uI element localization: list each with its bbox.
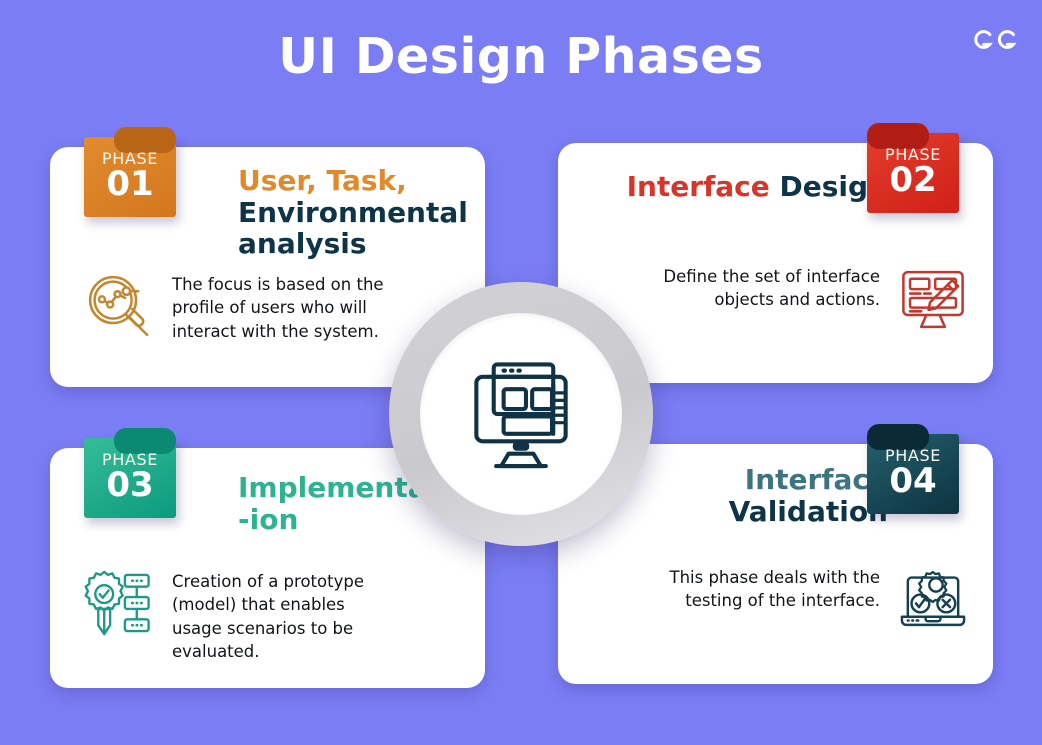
monitor-wireframe-pencil-icon <box>896 261 970 335</box>
phase-badge-02: PHASE 02 <box>867 133 959 213</box>
magnifier-chart-icon <box>82 269 156 343</box>
phase-heading-01: User, Task, Environmental analysis <box>238 165 478 260</box>
center-emblem <box>389 282 653 546</box>
phase-heading-02: Interface Design <box>588 171 888 203</box>
heading-part-1: Interface <box>627 170 780 203</box>
phase-badge-03: PHASE 03 <box>84 438 176 518</box>
phase-description-04: This phase deals with the testing of the… <box>648 562 880 613</box>
center-emblem-inner <box>420 313 622 515</box>
phase-body-03: Creation of a prototype (model) that ena… <box>82 566 458 664</box>
heading-part-2: Validation <box>729 495 888 528</box>
phase-body-02: Define the set of interface objects and … <box>590 261 970 335</box>
phase-description-01: The focus is based on the profile of use… <box>172 269 390 343</box>
heading-part-2: -ion <box>238 503 298 536</box>
badge-number: 02 <box>889 163 936 199</box>
badge-number: 03 <box>106 468 153 504</box>
desktop-wireframe-icon <box>459 352 583 476</box>
phase-body-01: The focus is based on the profile of use… <box>82 269 458 343</box>
phase-description-03: Creation of a prototype (model) that ena… <box>172 566 390 664</box>
badge-number: 01 <box>106 167 153 203</box>
heading-part-1: User, Task, <box>238 164 407 197</box>
badge-number: 04 <box>889 464 936 500</box>
phase-badge-04: PHASE 04 <box>867 434 959 514</box>
laptop-gear-check-cross-icon <box>896 562 970 636</box>
heading-part-2: Environmental analysis <box>238 196 468 261</box>
phase-badge-01: PHASE 01 <box>84 137 176 217</box>
phase-description-02: Define the set of interface objects and … <box>648 261 880 312</box>
gear-check-pencil-flowchart-icon <box>82 566 156 640</box>
phase-body-04: This phase deals with the testing of the… <box>590 562 970 636</box>
